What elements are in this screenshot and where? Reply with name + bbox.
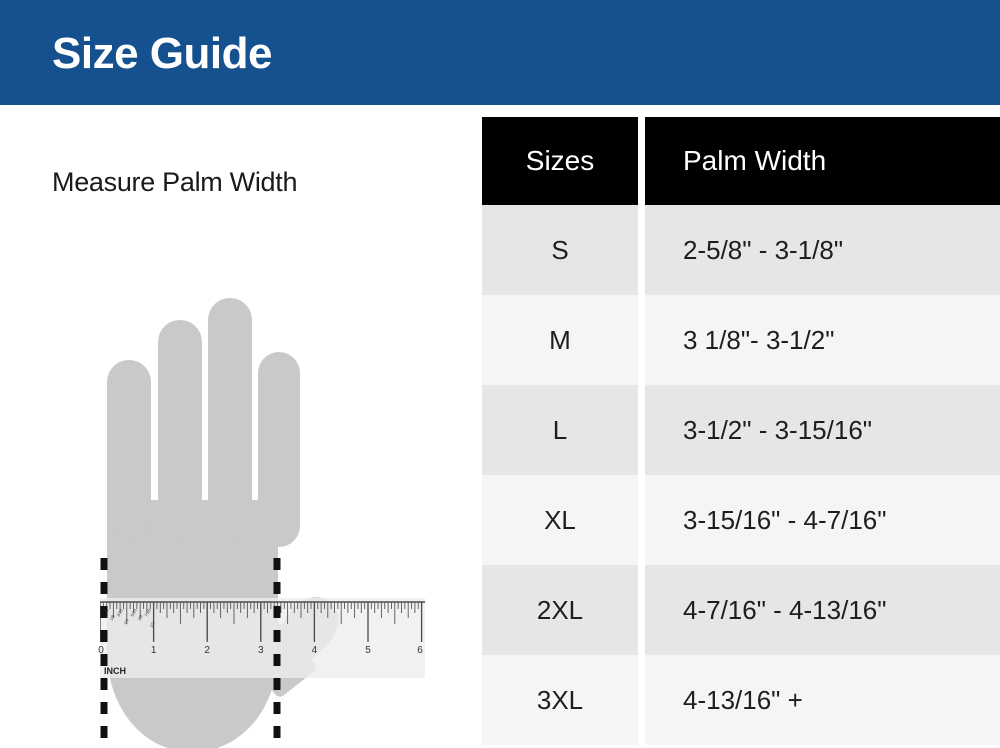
cell-size: M bbox=[482, 295, 638, 385]
cell-size: XL bbox=[482, 475, 638, 565]
cell-palm-width: 3 1/8"- 3-1/2" bbox=[645, 295, 1000, 385]
table-row: 3XL 4-13/16" + bbox=[482, 655, 1000, 745]
page-title: Size Guide bbox=[52, 28, 272, 80]
size-guide-page: Size Guide Measure Palm Width bbox=[0, 0, 1000, 748]
cell-palm-width: 3-1/2" - 3-15/16" bbox=[645, 385, 1000, 475]
cell-size: 2XL bbox=[482, 565, 638, 655]
cell-size: S bbox=[482, 205, 638, 295]
table-row: L 3-1/2" - 3-15/16" bbox=[482, 385, 1000, 475]
cell-size: L bbox=[482, 385, 638, 475]
measure-heading: Measure Palm Width bbox=[52, 167, 297, 198]
header-banner: Size Guide bbox=[0, 0, 1000, 105]
cell-size: 3XL bbox=[482, 655, 638, 745]
table-row: XL 3-15/16" - 4-7/16" bbox=[482, 475, 1000, 565]
measure-illustration-pane: Measure Palm Width bbox=[0, 105, 480, 748]
cell-palm-width: 4-13/16" + bbox=[645, 655, 1000, 745]
hand-measure-illustration: 1/16 1/8 3/16 1/4 5/16 3/8 7/16 1/2 0 1 … bbox=[0, 210, 480, 748]
column-header-sizes: Sizes bbox=[482, 117, 638, 205]
size-table: Sizes Palm Width S 2-5/8" - 3-1/8" M 3 1… bbox=[482, 117, 1000, 748]
table-row: M 3 1/8"- 3-1/2" bbox=[482, 295, 1000, 385]
column-header-palm-width: Palm Width bbox=[645, 117, 1000, 205]
cell-palm-width: 2-5/8" - 3-1/8" bbox=[645, 205, 1000, 295]
cell-palm-width: 4-7/16" - 4-13/16" bbox=[645, 565, 1000, 655]
measurement-guide-lines bbox=[0, 210, 480, 748]
cell-palm-width: 3-15/16" - 4-7/16" bbox=[645, 475, 1000, 565]
table-row: 2XL 4-7/16" - 4-13/16" bbox=[482, 565, 1000, 655]
table-header-row: Sizes Palm Width bbox=[482, 117, 1000, 205]
table-row: S 2-5/8" - 3-1/8" bbox=[482, 205, 1000, 295]
